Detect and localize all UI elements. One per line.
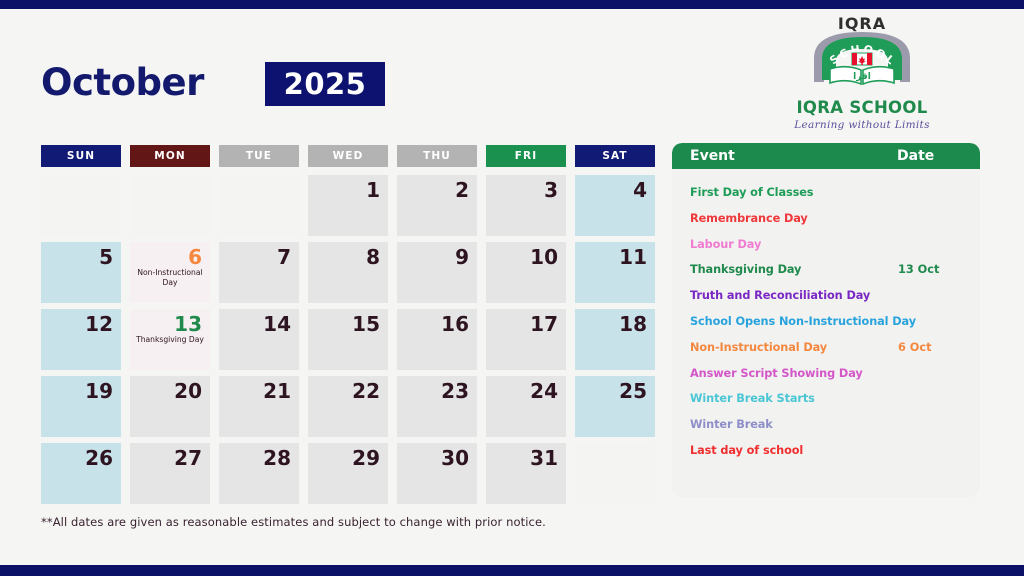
calendar-week-row: 262728293031 bbox=[41, 443, 655, 504]
calendar-day-cell-5[interactable]: 5 bbox=[41, 242, 121, 303]
calendar-week-rows: 123456Non-Instructional Day78910111213Th… bbox=[41, 175, 655, 504]
calendar-day-cell-16[interactable]: 16 bbox=[397, 309, 477, 370]
event-name: First Day of Classes bbox=[690, 186, 813, 199]
event-row[interactable]: Non-Instructional Day6 Oct bbox=[672, 338, 980, 364]
event-name: School Opens Non-Instructional Day bbox=[690, 315, 916, 328]
calendar-page: October 2025 IQRA SCHOOL bbox=[0, 0, 1024, 576]
calendar-day-cell-4[interactable]: 4 bbox=[575, 175, 655, 236]
logo-school-name: IQRA SCHOOL bbox=[782, 98, 942, 117]
calendar-day-cell-26[interactable]: 26 bbox=[41, 443, 121, 504]
day-number: 5 bbox=[41, 246, 113, 268]
event-row[interactable]: School Opens Non-Instructional Day bbox=[672, 312, 980, 338]
event-row[interactable]: Winter Break bbox=[672, 415, 980, 441]
calendar-day-cell-15[interactable]: 15 bbox=[308, 309, 388, 370]
event-name: Non-Instructional Day bbox=[690, 341, 827, 354]
day-number: 22 bbox=[308, 380, 380, 402]
calendar-day-cell-empty bbox=[130, 175, 210, 236]
event-name: Labour Day bbox=[690, 238, 761, 251]
page-title: October bbox=[41, 61, 204, 104]
column-header-date: Date bbox=[897, 148, 934, 164]
event-row[interactable]: Labour Day bbox=[672, 235, 980, 261]
day-number: 17 bbox=[486, 313, 558, 335]
footnote: **All dates are given as reasonable esti… bbox=[41, 515, 546, 529]
day-header-sat: SAT bbox=[575, 145, 655, 167]
day-number: 13 bbox=[130, 313, 202, 335]
svg-text:اقرا: اقرا bbox=[853, 72, 871, 82]
day-number: 3 bbox=[486, 179, 558, 201]
calendar-day-cell-19[interactable]: 19 bbox=[41, 376, 121, 437]
day-number: 19 bbox=[41, 380, 113, 402]
calendar-day-cell-24[interactable]: 24 bbox=[486, 376, 566, 437]
calendar-week-row: 56Non-Instructional Day7891011 bbox=[41, 242, 655, 303]
event-name: Winter Break Starts bbox=[690, 392, 815, 405]
calendar-day-cell-6[interactable]: 6Non-Instructional Day bbox=[130, 242, 210, 303]
event-name: Answer Script Showing Day bbox=[690, 367, 863, 380]
event-panel-header: Event Date bbox=[672, 143, 980, 169]
day-number: 4 bbox=[575, 179, 647, 201]
day-of-week-header-row: SUNMONTUEWEDTHUFRISAT bbox=[41, 145, 655, 167]
day-note: Thanksgiving Day bbox=[130, 335, 210, 345]
calendar-day-cell-empty bbox=[575, 443, 655, 504]
day-number: 16 bbox=[397, 313, 469, 335]
day-number: 30 bbox=[397, 447, 469, 469]
event-row[interactable]: First Day of Classes bbox=[672, 183, 980, 209]
event-row[interactable]: Answer Script Showing Day bbox=[672, 364, 980, 390]
calendar-day-cell-empty bbox=[219, 175, 299, 236]
day-header-sun: SUN bbox=[41, 145, 121, 167]
event-date: 6 Oct bbox=[898, 341, 932, 354]
calendar-day-cell-25[interactable]: 25 bbox=[575, 376, 655, 437]
calendar-week-row: 19202122232425 bbox=[41, 376, 655, 437]
day-note: Non-Instructional Day bbox=[130, 268, 210, 288]
calendar-week-row: 1213Thanksgiving Day1415161718 bbox=[41, 309, 655, 370]
event-date: 13 Oct bbox=[898, 263, 939, 276]
column-header-event: Event bbox=[690, 148, 735, 164]
day-number: 12 bbox=[41, 313, 113, 335]
event-name: Truth and Reconciliation Day bbox=[690, 289, 870, 302]
day-number: 21 bbox=[219, 380, 291, 402]
day-number: 1 bbox=[308, 179, 380, 201]
calendar-day-cell-empty bbox=[41, 175, 121, 236]
day-header-thu: THU bbox=[397, 145, 477, 167]
calendar-day-cell-12[interactable]: 12 bbox=[41, 309, 121, 370]
event-name: Winter Break bbox=[690, 418, 773, 431]
calendar-day-cell-10[interactable]: 10 bbox=[486, 242, 566, 303]
day-number: 20 bbox=[130, 380, 202, 402]
logo-tagline: Learning without Limits bbox=[782, 119, 942, 131]
day-number: 18 bbox=[575, 313, 647, 335]
day-number: 23 bbox=[397, 380, 469, 402]
event-name: Last day of school bbox=[690, 444, 803, 457]
year-badge: 2025 bbox=[265, 62, 385, 106]
calendar-day-cell-2[interactable]: 2 bbox=[397, 175, 477, 236]
logo-emblem-icon: SCHOOL اقرا bbox=[808, 28, 916, 86]
day-header-fri: FRI bbox=[486, 145, 566, 167]
day-number: 8 bbox=[308, 246, 380, 268]
day-number: 31 bbox=[486, 447, 558, 469]
day-header-wed: WED bbox=[308, 145, 388, 167]
calendar-day-cell-3[interactable]: 3 bbox=[486, 175, 566, 236]
year-label: 2025 bbox=[284, 67, 367, 101]
calendar-day-cell-29[interactable]: 29 bbox=[308, 443, 388, 504]
calendar-week-row: 1234 bbox=[41, 175, 655, 236]
calendar-grid: SUNMONTUEWEDTHUFRISAT 123456Non-Instruct… bbox=[41, 145, 655, 504]
calendar-day-cell-27[interactable]: 27 bbox=[130, 443, 210, 504]
day-number: 24 bbox=[486, 380, 558, 402]
day-number: 29 bbox=[308, 447, 380, 469]
day-header-tue: TUE bbox=[219, 145, 299, 167]
calendar-day-cell-21[interactable]: 21 bbox=[219, 376, 299, 437]
day-number: 10 bbox=[486, 246, 558, 268]
event-row[interactable]: Last day of school bbox=[672, 441, 980, 467]
event-row[interactable]: Winter Break Starts bbox=[672, 389, 980, 415]
day-number: 28 bbox=[219, 447, 291, 469]
day-header-mon: MON bbox=[130, 145, 210, 167]
calendar-day-cell-13[interactable]: 13Thanksgiving Day bbox=[130, 309, 210, 370]
calendar-day-cell-23[interactable]: 23 bbox=[397, 376, 477, 437]
day-number: 14 bbox=[219, 313, 291, 335]
day-number: 26 bbox=[41, 447, 113, 469]
calendar-day-cell-28[interactable]: 28 bbox=[219, 443, 299, 504]
event-list: First Day of ClassesRemembrance DayLabou… bbox=[672, 169, 980, 467]
event-name: Thanksgiving Day bbox=[690, 263, 801, 276]
event-panel: Event Date First Day of ClassesRemembran… bbox=[672, 143, 980, 497]
day-number: 9 bbox=[397, 246, 469, 268]
calendar-day-cell-8[interactable]: 8 bbox=[308, 242, 388, 303]
calendar-day-cell-17[interactable]: 17 bbox=[486, 309, 566, 370]
calendar-day-cell-7[interactable]: 7 bbox=[219, 242, 299, 303]
calendar-day-cell-22[interactable]: 22 bbox=[308, 376, 388, 437]
calendar-day-cell-20[interactable]: 20 bbox=[130, 376, 210, 437]
day-number: 11 bbox=[575, 246, 647, 268]
day-number: 7 bbox=[219, 246, 291, 268]
day-number: 2 bbox=[397, 179, 469, 201]
calendar-day-cell-18[interactable]: 18 bbox=[575, 309, 655, 370]
calendar-day-cell-9[interactable]: 9 bbox=[397, 242, 477, 303]
calendar-day-cell-31[interactable]: 31 bbox=[486, 443, 566, 504]
school-logo: IQRA SCHOOL bbox=[782, 8, 942, 134]
event-row[interactable]: Truth and Reconciliation Day bbox=[672, 286, 980, 312]
event-row[interactable]: Thanksgiving Day13 Oct bbox=[672, 260, 980, 286]
bottom-accent-bar bbox=[0, 565, 1024, 576]
calendar-day-cell-30[interactable]: 30 bbox=[397, 443, 477, 504]
day-number: 27 bbox=[130, 447, 202, 469]
calendar-day-cell-11[interactable]: 11 bbox=[575, 242, 655, 303]
day-number: 25 bbox=[575, 380, 647, 402]
event-name: Remembrance Day bbox=[690, 212, 808, 225]
day-number: 15 bbox=[308, 313, 380, 335]
event-row[interactable]: Remembrance Day bbox=[672, 209, 980, 235]
day-number: 6 bbox=[130, 246, 202, 268]
calendar-day-cell-1[interactable]: 1 bbox=[308, 175, 388, 236]
calendar-day-cell-14[interactable]: 14 bbox=[219, 309, 299, 370]
